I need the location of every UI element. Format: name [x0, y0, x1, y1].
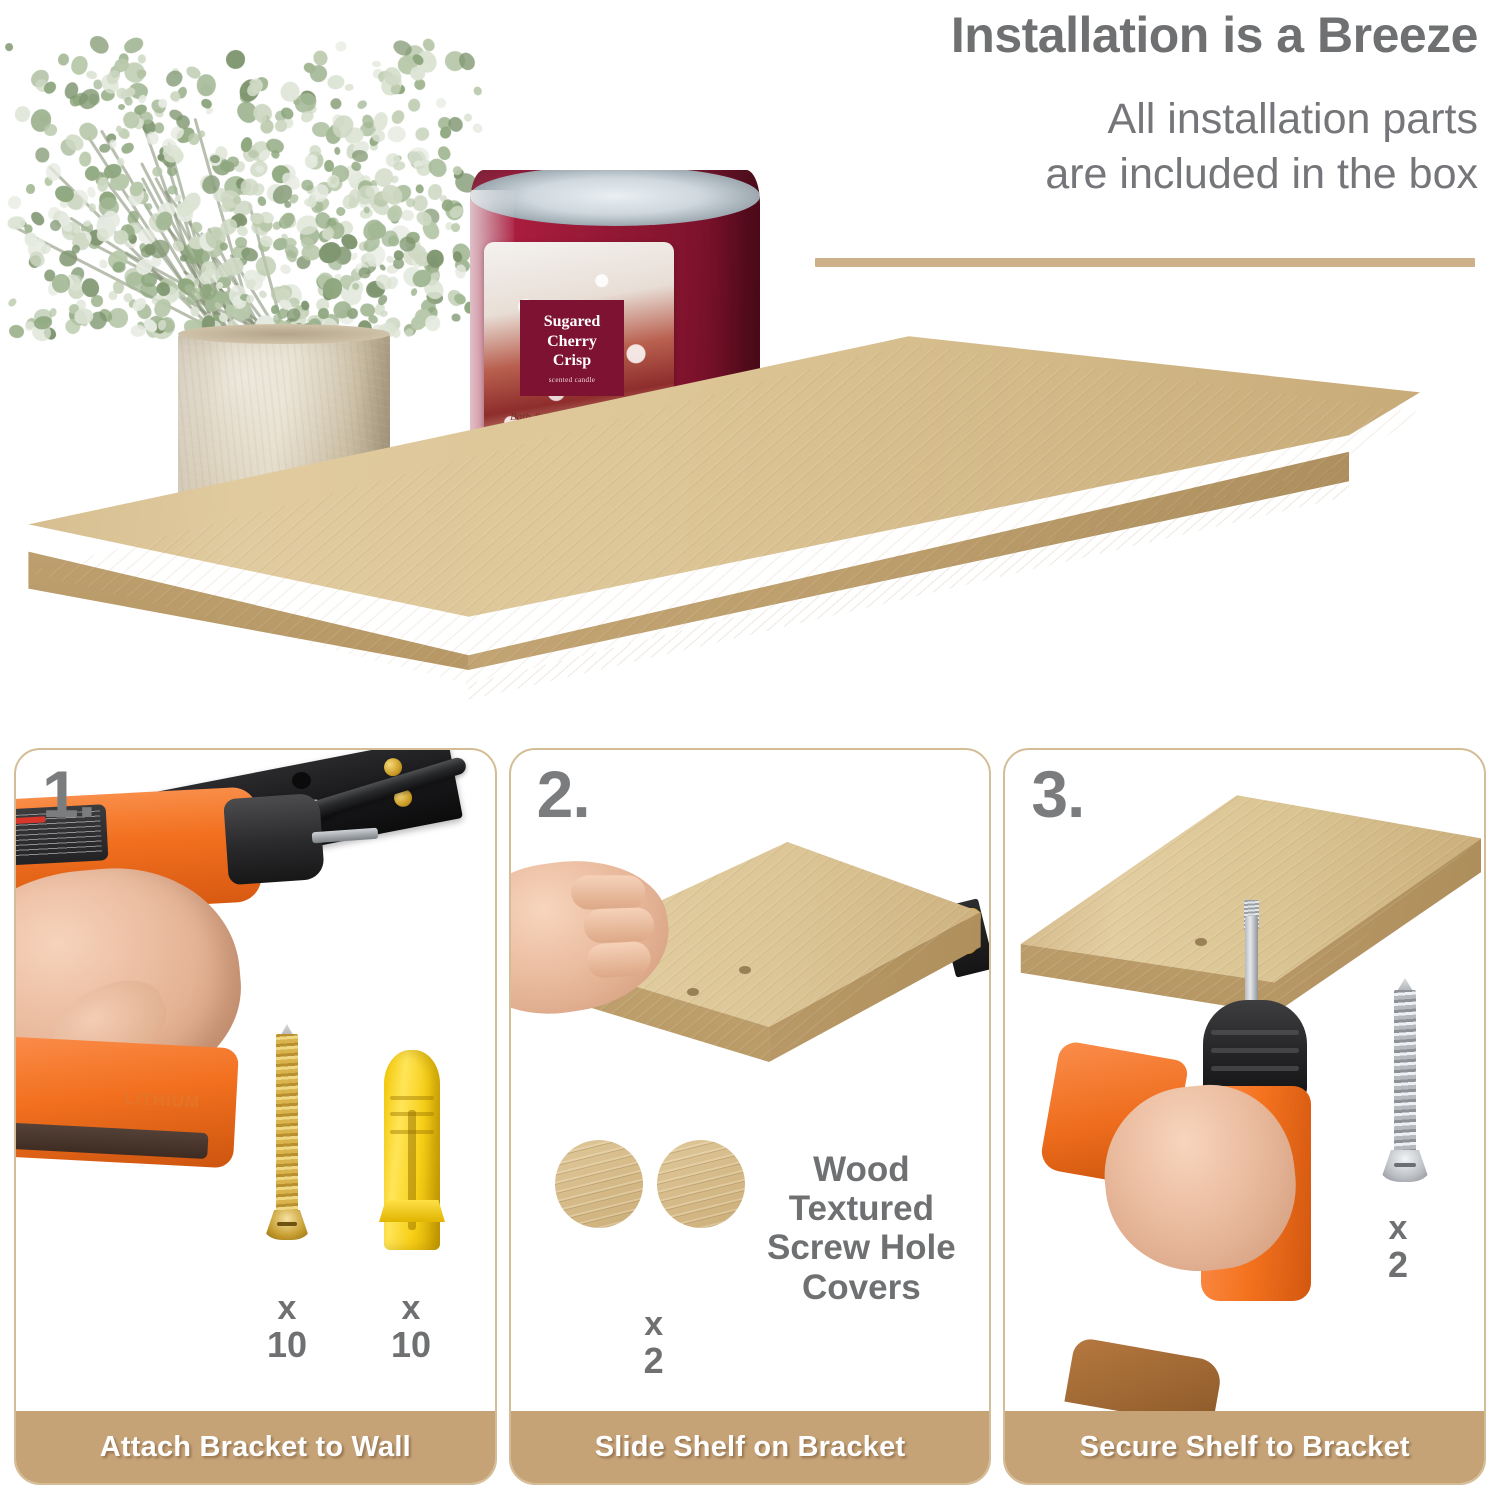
multiplier-symbol: x — [617, 1306, 691, 1342]
screw-hole-cover-icon — [555, 1140, 643, 1228]
multiplier-symbol: x — [250, 1290, 324, 1326]
plant-leaf — [86, 32, 112, 57]
shelf-screw-count: x 2 — [1368, 1210, 1428, 1284]
shelf-screw-icon — [1380, 976, 1430, 1190]
wood-screw-quantity: 10 — [267, 1324, 307, 1365]
plant-leaf — [455, 264, 467, 278]
step-card-1[interactable]: 1. — [14, 748, 497, 1485]
covers-note-line1: Wood — [751, 1150, 971, 1189]
battery-base — [16, 1122, 209, 1159]
shelf-screw-hole — [687, 988, 699, 996]
plant-leaf — [6, 215, 26, 230]
step-card-3[interactable]: 3. BLACK+ DECKER — [1003, 748, 1486, 1485]
plant-leaf — [387, 235, 399, 246]
chuck-ring — [1211, 1066, 1299, 1071]
chuck-ring — [1211, 1030, 1299, 1035]
plant-leaf — [4, 41, 15, 52]
step-3-illustration: 3. BLACK+ DECKER — [1005, 750, 1484, 1411]
plant-leaf — [35, 147, 50, 163]
plant-leaf — [56, 52, 70, 67]
shelf-screw-hole — [739, 966, 751, 974]
screw-hole-covers-swatch — [541, 1122, 759, 1246]
covers-note-line2: Textured — [751, 1189, 971, 1228]
step-1-illustration: 1. — [16, 750, 495, 1411]
battery-lithium-text: LITHIUM — [124, 1089, 201, 1113]
plant-leaf — [46, 163, 61, 181]
finger — [571, 875, 645, 909]
shelf-screw-quantity: 2 — [1388, 1244, 1408, 1285]
plant-leaf — [275, 119, 288, 132]
drill-battery: LITHIUM — [16, 1036, 239, 1169]
wood-screw-count: x 10 — [250, 1290, 324, 1364]
wall-anchor-icon — [384, 1050, 440, 1250]
wall-anchor-quantity: 10 — [391, 1324, 431, 1365]
multiplier-symbol: x — [1368, 1210, 1428, 1246]
plant-leaf — [26, 184, 35, 194]
plant-leaf — [327, 74, 346, 91]
anchor-flange — [379, 1200, 445, 1222]
plant-leaf — [301, 179, 313, 190]
hero-section: Sugared Cherry Crisp scented candle Bath… — [0, 0, 1500, 735]
plant-leaf — [407, 99, 420, 112]
plant-leaf — [137, 53, 146, 63]
screw-thread — [1394, 990, 1416, 1158]
step-2-number: 2. — [537, 756, 590, 832]
step-2-illustration: 2. — [511, 750, 990, 1411]
plant-leaf — [410, 287, 419, 297]
step-card-2[interactable]: 2. — [509, 748, 992, 1485]
plant-leaf — [356, 99, 369, 111]
plant-leaf — [7, 195, 22, 210]
plant-leaf — [388, 126, 407, 143]
finger — [583, 907, 654, 943]
plant-leaf — [155, 122, 165, 133]
cover-count: x 2 — [617, 1306, 691, 1380]
step-1-label: Attach Bracket to Wall — [100, 1431, 411, 1464]
step-1-footer: Attach Bracket to Wall — [16, 1411, 495, 1483]
page-title: Installation is a Breeze — [758, 8, 1478, 62]
plant-leaf — [118, 104, 126, 110]
wall-anchor-count: x 10 — [374, 1290, 448, 1364]
subtitle-line-1: All installation parts — [758, 92, 1478, 147]
plant-leaf — [120, 140, 136, 155]
step-3-number: 3. — [1031, 756, 1084, 832]
plant-leaf — [390, 108, 407, 126]
plant-leaf — [117, 157, 125, 166]
plant-leaf — [414, 125, 433, 143]
screw-thread — [276, 1034, 298, 1218]
plant-leaf — [449, 222, 461, 234]
plant-leaf — [279, 263, 293, 276]
plant-leaf — [146, 132, 159, 146]
plant-leaf — [410, 66, 426, 81]
plant-leaf — [401, 209, 415, 221]
plant-leaf — [196, 74, 216, 97]
plant-leaf — [334, 146, 341, 155]
step-2-label: Slide Shelf on Bracket — [595, 1431, 906, 1464]
drill-chuck — [223, 793, 325, 885]
chuck-ring — [1211, 1048, 1299, 1053]
plant-leaf — [335, 41, 347, 53]
plant-leaf — [415, 184, 425, 195]
plant-leaf — [463, 112, 474, 123]
screw-head — [264, 1210, 310, 1240]
step-3-label: Secure Shelf to Bracket — [1080, 1431, 1410, 1464]
plant-leaf — [471, 122, 484, 135]
steps-row: 1. — [0, 740, 1500, 1493]
shirt-sleeve — [1065, 1336, 1224, 1411]
step-3-footer: Secure Shelf to Bracket — [1005, 1411, 1484, 1483]
step-1-number: 1. — [42, 756, 95, 832]
plant-leaf — [472, 86, 483, 97]
subtitle-line-2: are included in the box — [758, 147, 1478, 202]
multiplier-symbol: x — [374, 1290, 448, 1326]
plant-leaf — [435, 97, 448, 110]
screw-head — [1380, 1150, 1430, 1182]
anchor-rib — [390, 1096, 434, 1100]
covers-note-line4: Covers — [751, 1268, 971, 1307]
plant-leaf — [88, 203, 96, 212]
header-divider — [815, 258, 1475, 267]
rod-end-cap — [292, 772, 311, 789]
plant-leaf — [227, 156, 239, 168]
plant-leaf — [328, 96, 343, 111]
plant-leaf — [52, 274, 70, 293]
covers-note-line3: Screw Hole — [751, 1228, 971, 1267]
finger — [585, 940, 651, 978]
screw-hole-cover-icon — [657, 1140, 745, 1228]
plant-leaf — [225, 48, 247, 70]
plant-leaf — [407, 148, 428, 167]
step-2-footer: Slide Shelf on Bracket — [511, 1411, 990, 1483]
covers-note: Wood Textured Screw Hole Covers — [751, 1150, 971, 1307]
shelf-top-face — [0, 300, 1420, 630]
plant-leaf — [372, 61, 381, 68]
plant-leaf — [13, 104, 32, 123]
plant-leaf — [112, 262, 125, 273]
hero-floating-shelf — [0, 300, 1420, 700]
cover-quantity: 2 — [644, 1340, 664, 1381]
wood-screw-icon — [264, 1018, 310, 1254]
drill-bit — [1245, 916, 1258, 1006]
plant-leaf — [44, 124, 58, 136]
plant-leaf — [257, 195, 268, 207]
plant-leaf — [79, 151, 92, 167]
plant-leaf — [344, 84, 354, 92]
headline-block: Installation is a Breeze All installatio… — [758, 8, 1478, 202]
